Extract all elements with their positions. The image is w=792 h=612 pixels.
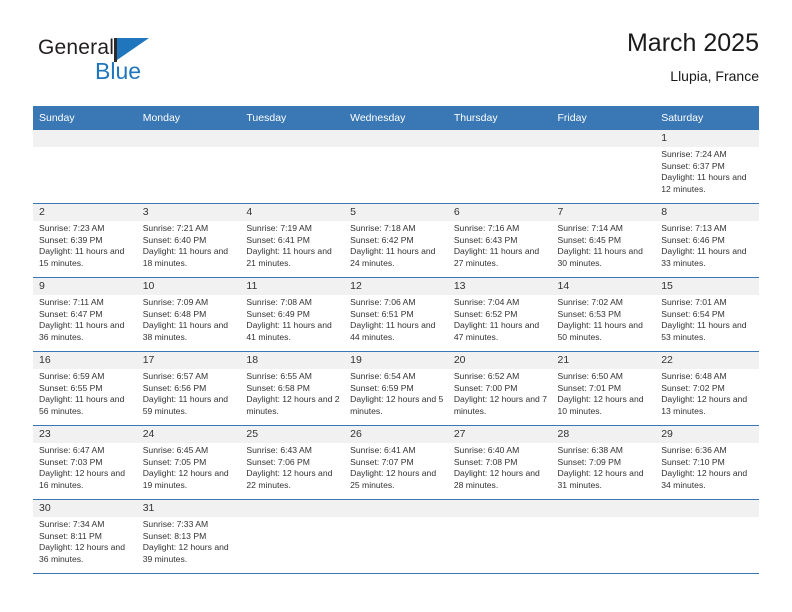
sunset-text: Sunset: 6:55 PM <box>39 383 133 395</box>
day-number <box>448 130 552 147</box>
page-subtitle-location: Llupia, France <box>627 66 759 86</box>
day-number: 5 <box>344 204 448 221</box>
day-number: 8 <box>655 204 759 221</box>
daylight-text: Daylight: 12 hours and 25 minutes. <box>350 468 444 491</box>
sunset-text: Sunset: 7:06 PM <box>246 457 340 469</box>
day-details: Sunrise: 6:36 AMSunset: 7:10 PMDaylight:… <box>655 443 759 491</box>
sunrise-text: Sunrise: 7:33 AM <box>143 519 237 531</box>
day-number: 15 <box>655 278 759 295</box>
day-number: 10 <box>137 278 241 295</box>
day-number: 3 <box>137 204 241 221</box>
sunrise-text: Sunrise: 7:01 AM <box>661 297 755 309</box>
daylight-text: Daylight: 12 hours and 16 minutes. <box>39 468 133 491</box>
sunrise-text: Sunrise: 7:23 AM <box>39 223 133 235</box>
day-number <box>655 500 759 517</box>
sunset-text: Sunset: 6:41 PM <box>246 235 340 247</box>
calendar-page: General Blue March 2025 Llupia, France S… <box>0 0 792 612</box>
day-number: 31 <box>137 500 241 517</box>
calendar-day-cell[interactable]: 25Sunrise: 6:43 AMSunset: 7:06 PMDayligh… <box>240 426 344 500</box>
sunset-text: Sunset: 7:01 PM <box>558 383 652 395</box>
calendar-day-cell[interactable]: 5Sunrise: 7:18 AMSunset: 6:42 PMDaylight… <box>344 204 448 278</box>
calendar-cell-empty <box>33 130 137 204</box>
calendar-day-cell[interactable]: 16Sunrise: 6:59 AMSunset: 6:55 PMDayligh… <box>33 352 137 426</box>
sunset-text: Sunset: 6:59 PM <box>350 383 444 395</box>
sunrise-text: Sunrise: 6:47 AM <box>39 445 133 457</box>
sunrise-text: Sunrise: 7:04 AM <box>454 297 548 309</box>
day-number <box>552 500 656 517</box>
day-number: 29 <box>655 426 759 443</box>
calendar-cell-empty <box>240 130 344 204</box>
daylight-text: Daylight: 12 hours and 5 minutes. <box>350 394 444 417</box>
logo-text-blue: Blue <box>95 58 141 85</box>
weekday-header-monday: Monday <box>137 106 241 130</box>
day-number: 21 <box>552 352 656 369</box>
calendar-day-cell[interactable]: 11Sunrise: 7:08 AMSunset: 6:49 PMDayligh… <box>240 278 344 352</box>
sunrise-text: Sunrise: 7:06 AM <box>350 297 444 309</box>
day-details: Sunrise: 6:50 AMSunset: 7:01 PMDaylight:… <box>552 369 656 417</box>
sunrise-text: Sunrise: 6:36 AM <box>661 445 755 457</box>
daylight-text: Daylight: 11 hours and 53 minutes. <box>661 320 755 343</box>
day-number <box>552 130 656 147</box>
weekday-header-saturday: Saturday <box>655 106 759 130</box>
day-details: Sunrise: 7:24 AMSunset: 6:37 PMDaylight:… <box>655 147 759 195</box>
day-details: Sunrise: 7:04 AMSunset: 6:52 PMDaylight:… <box>448 295 552 343</box>
sunset-text: Sunset: 6:56 PM <box>143 383 237 395</box>
sunrise-text: Sunrise: 7:02 AM <box>558 297 652 309</box>
calendar-day-cell[interactable]: 12Sunrise: 7:06 AMSunset: 6:51 PMDayligh… <box>344 278 448 352</box>
daylight-text: Daylight: 11 hours and 30 minutes. <box>558 246 652 269</box>
daylight-text: Daylight: 12 hours and 7 minutes. <box>454 394 548 417</box>
weekday-header-friday: Friday <box>552 106 656 130</box>
sunset-text: Sunset: 7:00 PM <box>454 383 548 395</box>
day-number: 24 <box>137 426 241 443</box>
sunrise-text: Sunrise: 6:41 AM <box>350 445 444 457</box>
calendar-day-cell[interactable]: 7Sunrise: 7:14 AMSunset: 6:45 PMDaylight… <box>552 204 656 278</box>
sunrise-text: Sunrise: 7:19 AM <box>246 223 340 235</box>
calendar-day-cell[interactable]: 2Sunrise: 7:23 AMSunset: 6:39 PMDaylight… <box>33 204 137 278</box>
calendar-cell-empty <box>344 500 448 574</box>
daylight-text: Daylight: 11 hours and 36 minutes. <box>39 320 133 343</box>
day-number: 2 <box>33 204 137 221</box>
calendar-header-row: Sunday Monday Tuesday Wednesday Thursday… <box>33 106 759 130</box>
calendar-cell-empty <box>240 500 344 574</box>
day-number: 13 <box>448 278 552 295</box>
day-details: Sunrise: 6:45 AMSunset: 7:05 PMDaylight:… <box>137 443 241 491</box>
calendar-day-cell[interactable]: 18Sunrise: 6:55 AMSunset: 6:58 PMDayligh… <box>240 352 344 426</box>
day-details: Sunrise: 7:14 AMSunset: 6:45 PMDaylight:… <box>552 221 656 269</box>
daylight-text: Daylight: 12 hours and 28 minutes. <box>454 468 548 491</box>
calendar-day-cell[interactable]: 3Sunrise: 7:21 AMSunset: 6:40 PMDaylight… <box>137 204 241 278</box>
sunrise-text: Sunrise: 7:11 AM <box>39 297 133 309</box>
sunrise-text: Sunrise: 6:54 AM <box>350 371 444 383</box>
calendar-day-cell[interactable]: 31Sunrise: 7:33 AMSunset: 8:13 PMDayligh… <box>137 500 241 574</box>
sunrise-text: Sunrise: 6:59 AM <box>39 371 133 383</box>
sunrise-text: Sunrise: 7:13 AM <box>661 223 755 235</box>
sunset-text: Sunset: 6:47 PM <box>39 309 133 321</box>
calendar-day-cell[interactable]: 6Sunrise: 7:16 AMSunset: 6:43 PMDaylight… <box>448 204 552 278</box>
day-details: Sunrise: 7:06 AMSunset: 6:51 PMDaylight:… <box>344 295 448 343</box>
day-details: Sunrise: 6:54 AMSunset: 6:59 PMDaylight:… <box>344 369 448 417</box>
sunset-text: Sunset: 7:05 PM <box>143 457 237 469</box>
daylight-text: Daylight: 12 hours and 10 minutes. <box>558 394 652 417</box>
calendar-day-cell[interactable]: 21Sunrise: 6:50 AMSunset: 7:01 PMDayligh… <box>552 352 656 426</box>
day-details: Sunrise: 6:43 AMSunset: 7:06 PMDaylight:… <box>240 443 344 491</box>
sunrise-text: Sunrise: 7:21 AM <box>143 223 237 235</box>
daylight-text: Daylight: 12 hours and 19 minutes. <box>143 468 237 491</box>
day-details: Sunrise: 7:11 AMSunset: 6:47 PMDaylight:… <box>33 295 137 343</box>
weekday-header-tuesday: Tuesday <box>240 106 344 130</box>
day-details: Sunrise: 6:41 AMSunset: 7:07 PMDaylight:… <box>344 443 448 491</box>
day-number: 6 <box>448 204 552 221</box>
calendar-cell-empty <box>552 500 656 574</box>
daylight-text: Daylight: 11 hours and 50 minutes. <box>558 320 652 343</box>
page-title: March 2025 <box>627 28 759 58</box>
calendar-day-cell[interactable]: 17Sunrise: 6:57 AMSunset: 6:56 PMDayligh… <box>137 352 241 426</box>
weekday-header-wednesday: Wednesday <box>344 106 448 130</box>
calendar-day-cell[interactable]: 1Sunrise: 7:24 AMSunset: 6:37 PMDaylight… <box>655 130 759 204</box>
day-details: Sunrise: 6:55 AMSunset: 6:58 PMDaylight:… <box>240 369 344 417</box>
day-details: Sunrise: 6:38 AMSunset: 7:09 PMDaylight:… <box>552 443 656 491</box>
calendar-day-cell[interactable]: 26Sunrise: 6:41 AMSunset: 7:07 PMDayligh… <box>344 426 448 500</box>
day-details: Sunrise: 6:48 AMSunset: 7:02 PMDaylight:… <box>655 369 759 417</box>
sunset-text: Sunset: 6:53 PM <box>558 309 652 321</box>
calendar-day-cell[interactable]: 4Sunrise: 7:19 AMSunset: 6:41 PMDaylight… <box>240 204 344 278</box>
sunset-text: Sunset: 6:46 PM <box>661 235 755 247</box>
calendar-day-cell[interactable]: 13Sunrise: 7:04 AMSunset: 6:52 PMDayligh… <box>448 278 552 352</box>
daylight-text: Daylight: 11 hours and 38 minutes. <box>143 320 237 343</box>
day-details: Sunrise: 7:01 AMSunset: 6:54 PMDaylight:… <box>655 295 759 343</box>
calendar-cell-empty <box>552 130 656 204</box>
sunset-text: Sunset: 6:54 PM <box>661 309 755 321</box>
calendar-day-cell[interactable]: 28Sunrise: 6:38 AMSunset: 7:09 PMDayligh… <box>552 426 656 500</box>
sunrise-text: Sunrise: 6:45 AM <box>143 445 237 457</box>
sunset-text: Sunset: 7:02 PM <box>661 383 755 395</box>
day-number: 14 <box>552 278 656 295</box>
day-details: Sunrise: 6:57 AMSunset: 6:56 PMDaylight:… <box>137 369 241 417</box>
calendar-cell-empty <box>448 130 552 204</box>
calendar-day-cell[interactable]: 20Sunrise: 6:52 AMSunset: 7:00 PMDayligh… <box>448 352 552 426</box>
daylight-text: Daylight: 12 hours and 31 minutes. <box>558 468 652 491</box>
calendar-day-cell[interactable]: 9Sunrise: 7:11 AMSunset: 6:47 PMDaylight… <box>33 278 137 352</box>
day-number: 12 <box>344 278 448 295</box>
calendar-day-cell[interactable]: 19Sunrise: 6:54 AMSunset: 6:59 PMDayligh… <box>344 352 448 426</box>
day-details: Sunrise: 7:34 AMSunset: 8:11 PMDaylight:… <box>33 517 137 565</box>
day-number: 26 <box>344 426 448 443</box>
daylight-text: Daylight: 11 hours and 59 minutes. <box>143 394 237 417</box>
calendar-week-row: 9Sunrise: 7:11 AMSunset: 6:47 PMDaylight… <box>33 278 759 352</box>
day-number <box>33 130 137 147</box>
day-number: 20 <box>448 352 552 369</box>
calendar-day-cell[interactable]: 10Sunrise: 7:09 AMSunset: 6:48 PMDayligh… <box>137 278 241 352</box>
day-number: 4 <box>240 204 344 221</box>
page-header: General Blue March 2025 Llupia, France <box>33 28 759 100</box>
sunrise-text: Sunrise: 7:14 AM <box>558 223 652 235</box>
day-number: 22 <box>655 352 759 369</box>
daylight-text: Daylight: 12 hours and 34 minutes. <box>661 468 755 491</box>
day-number: 1 <box>655 130 759 147</box>
day-number <box>448 500 552 517</box>
day-number: 19 <box>344 352 448 369</box>
sunset-text: Sunset: 6:45 PM <box>558 235 652 247</box>
sunrise-text: Sunrise: 6:40 AM <box>454 445 548 457</box>
daylight-text: Daylight: 12 hours and 22 minutes. <box>246 468 340 491</box>
sunset-text: Sunset: 6:39 PM <box>39 235 133 247</box>
sunset-text: Sunset: 6:48 PM <box>143 309 237 321</box>
day-number: 18 <box>240 352 344 369</box>
day-details: Sunrise: 7:19 AMSunset: 6:41 PMDaylight:… <box>240 221 344 269</box>
sunset-text: Sunset: 8:13 PM <box>143 531 237 543</box>
day-number <box>344 500 448 517</box>
day-details: Sunrise: 6:52 AMSunset: 7:00 PMDaylight:… <box>448 369 552 417</box>
day-number: 23 <box>33 426 137 443</box>
logo-text-general: General <box>38 36 114 60</box>
day-details: Sunrise: 7:33 AMSunset: 8:13 PMDaylight:… <box>137 517 241 565</box>
sunrise-text: Sunrise: 6:43 AM <box>246 445 340 457</box>
sunset-text: Sunset: 7:10 PM <box>661 457 755 469</box>
daylight-text: Daylight: 11 hours and 56 minutes. <box>39 394 133 417</box>
calendar-day-cell[interactable]: 29Sunrise: 6:36 AMSunset: 7:10 PMDayligh… <box>655 426 759 500</box>
calendar-day-cell[interactable]: 30Sunrise: 7:34 AMSunset: 8:11 PMDayligh… <box>33 500 137 574</box>
sunset-text: Sunset: 6:51 PM <box>350 309 444 321</box>
daylight-text: Daylight: 11 hours and 12 minutes. <box>661 172 755 195</box>
title-block: March 2025 Llupia, France <box>627 28 759 86</box>
day-number: 11 <box>240 278 344 295</box>
calendar-day-cell[interactable]: 22Sunrise: 6:48 AMSunset: 7:02 PMDayligh… <box>655 352 759 426</box>
daylight-text: Daylight: 11 hours and 44 minutes. <box>350 320 444 343</box>
day-number <box>137 130 241 147</box>
calendar-cell-empty <box>137 130 241 204</box>
day-details: Sunrise: 7:18 AMSunset: 6:42 PMDaylight:… <box>344 221 448 269</box>
day-number <box>240 130 344 147</box>
sunrise-text: Sunrise: 7:08 AM <box>246 297 340 309</box>
calendar-week-row: 30Sunrise: 7:34 AMSunset: 8:11 PMDayligh… <box>33 500 759 574</box>
daylight-text: Daylight: 11 hours and 47 minutes. <box>454 320 548 343</box>
daylight-text: Daylight: 11 hours and 41 minutes. <box>246 320 340 343</box>
daylight-text: Daylight: 12 hours and 36 minutes. <box>39 542 133 565</box>
sunset-text: Sunset: 6:42 PM <box>350 235 444 247</box>
day-details: Sunrise: 6:40 AMSunset: 7:08 PMDaylight:… <box>448 443 552 491</box>
day-details: Sunrise: 7:02 AMSunset: 6:53 PMDaylight:… <box>552 295 656 343</box>
calendar-day-cell[interactable]: 24Sunrise: 6:45 AMSunset: 7:05 PMDayligh… <box>137 426 241 500</box>
calendar-week-row: 23Sunrise: 6:47 AMSunset: 7:03 PMDayligh… <box>33 426 759 500</box>
calendar-cell-empty <box>448 500 552 574</box>
daylight-text: Daylight: 12 hours and 13 minutes. <box>661 394 755 417</box>
sunset-text: Sunset: 6:58 PM <box>246 383 340 395</box>
calendar-day-cell[interactable]: 14Sunrise: 7:02 AMSunset: 6:53 PMDayligh… <box>552 278 656 352</box>
calendar-cell-empty <box>344 130 448 204</box>
daylight-text: Daylight: 11 hours and 21 minutes. <box>246 246 340 269</box>
day-number: 7 <box>552 204 656 221</box>
weekday-header-thursday: Thursday <box>448 106 552 130</box>
day-number: 25 <box>240 426 344 443</box>
day-number: 9 <box>33 278 137 295</box>
day-details: Sunrise: 7:23 AMSunset: 6:39 PMDaylight:… <box>33 221 137 269</box>
calendar-table: Sunday Monday Tuesday Wednesday Thursday… <box>33 106 759 574</box>
calendar-cell-empty <box>655 500 759 574</box>
calendar-day-cell[interactable]: 15Sunrise: 7:01 AMSunset: 6:54 PMDayligh… <box>655 278 759 352</box>
sunrise-text: Sunrise: 6:55 AM <box>246 371 340 383</box>
sunset-text: Sunset: 7:03 PM <box>39 457 133 469</box>
sunrise-text: Sunrise: 6:48 AM <box>661 371 755 383</box>
daylight-text: Daylight: 12 hours and 39 minutes. <box>143 542 237 565</box>
daylight-text: Daylight: 11 hours and 18 minutes. <box>143 246 237 269</box>
daylight-text: Daylight: 12 hours and 2 minutes. <box>246 394 340 417</box>
sunrise-text: Sunrise: 6:38 AM <box>558 445 652 457</box>
daylight-text: Daylight: 11 hours and 27 minutes. <box>454 246 548 269</box>
day-number: 17 <box>137 352 241 369</box>
daylight-text: Daylight: 11 hours and 24 minutes. <box>350 246 444 269</box>
day-details: Sunrise: 7:08 AMSunset: 6:49 PMDaylight:… <box>240 295 344 343</box>
sunset-text: Sunset: 6:49 PM <box>246 309 340 321</box>
sunset-text: Sunset: 6:40 PM <box>143 235 237 247</box>
sunrise-text: Sunrise: 7:24 AM <box>661 149 755 161</box>
sunrise-text: Sunrise: 6:50 AM <box>558 371 652 383</box>
sunset-text: Sunset: 7:08 PM <box>454 457 548 469</box>
daylight-text: Daylight: 11 hours and 33 minutes. <box>661 246 755 269</box>
calendar-day-cell[interactable]: 8Sunrise: 7:13 AMSunset: 6:46 PMDaylight… <box>655 204 759 278</box>
sunrise-text: Sunrise: 6:57 AM <box>143 371 237 383</box>
weekday-header-sunday: Sunday <box>33 106 137 130</box>
sunset-text: Sunset: 7:07 PM <box>350 457 444 469</box>
day-number <box>240 500 344 517</box>
sunrise-text: Sunrise: 7:16 AM <box>454 223 548 235</box>
sunset-text: Sunset: 6:52 PM <box>454 309 548 321</box>
calendar-body: 1Sunrise: 7:24 AMSunset: 6:37 PMDaylight… <box>33 130 759 574</box>
logo-divider <box>91 58 93 84</box>
sunrise-text: Sunrise: 6:52 AM <box>454 371 548 383</box>
day-details: Sunrise: 7:09 AMSunset: 6:48 PMDaylight:… <box>137 295 241 343</box>
calendar-day-cell[interactable]: 27Sunrise: 6:40 AMSunset: 7:08 PMDayligh… <box>448 426 552 500</box>
sunrise-text: Sunrise: 7:18 AM <box>350 223 444 235</box>
sunset-text: Sunset: 8:11 PM <box>39 531 133 543</box>
day-details: Sunrise: 6:59 AMSunset: 6:55 PMDaylight:… <box>33 369 137 417</box>
day-number: 16 <box>33 352 137 369</box>
day-details: Sunrise: 7:16 AMSunset: 6:43 PMDaylight:… <box>448 221 552 269</box>
day-number <box>344 130 448 147</box>
sunrise-text: Sunrise: 7:34 AM <box>39 519 133 531</box>
day-details: Sunrise: 7:21 AMSunset: 6:40 PMDaylight:… <box>137 221 241 269</box>
day-number: 27 <box>448 426 552 443</box>
sunset-text: Sunset: 6:37 PM <box>661 161 755 173</box>
day-number: 28 <box>552 426 656 443</box>
sunset-text: Sunset: 7:09 PM <box>558 457 652 469</box>
general-blue-logo[interactable]: General Blue <box>38 36 198 92</box>
day-details: Sunrise: 6:47 AMSunset: 7:03 PMDaylight:… <box>33 443 137 491</box>
day-number: 30 <box>33 500 137 517</box>
calendar-week-row: 2Sunrise: 7:23 AMSunset: 6:39 PMDaylight… <box>33 204 759 278</box>
sunset-text: Sunset: 6:43 PM <box>454 235 548 247</box>
daylight-text: Daylight: 11 hours and 15 minutes. <box>39 246 133 269</box>
calendar-day-cell[interactable]: 23Sunrise: 6:47 AMSunset: 7:03 PMDayligh… <box>33 426 137 500</box>
sunrise-text: Sunrise: 7:09 AM <box>143 297 237 309</box>
day-details: Sunrise: 7:13 AMSunset: 6:46 PMDaylight:… <box>655 221 759 269</box>
calendar-week-row: 1Sunrise: 7:24 AMSunset: 6:37 PMDaylight… <box>33 130 759 204</box>
calendar-week-row: 16Sunrise: 6:59 AMSunset: 6:55 PMDayligh… <box>33 352 759 426</box>
